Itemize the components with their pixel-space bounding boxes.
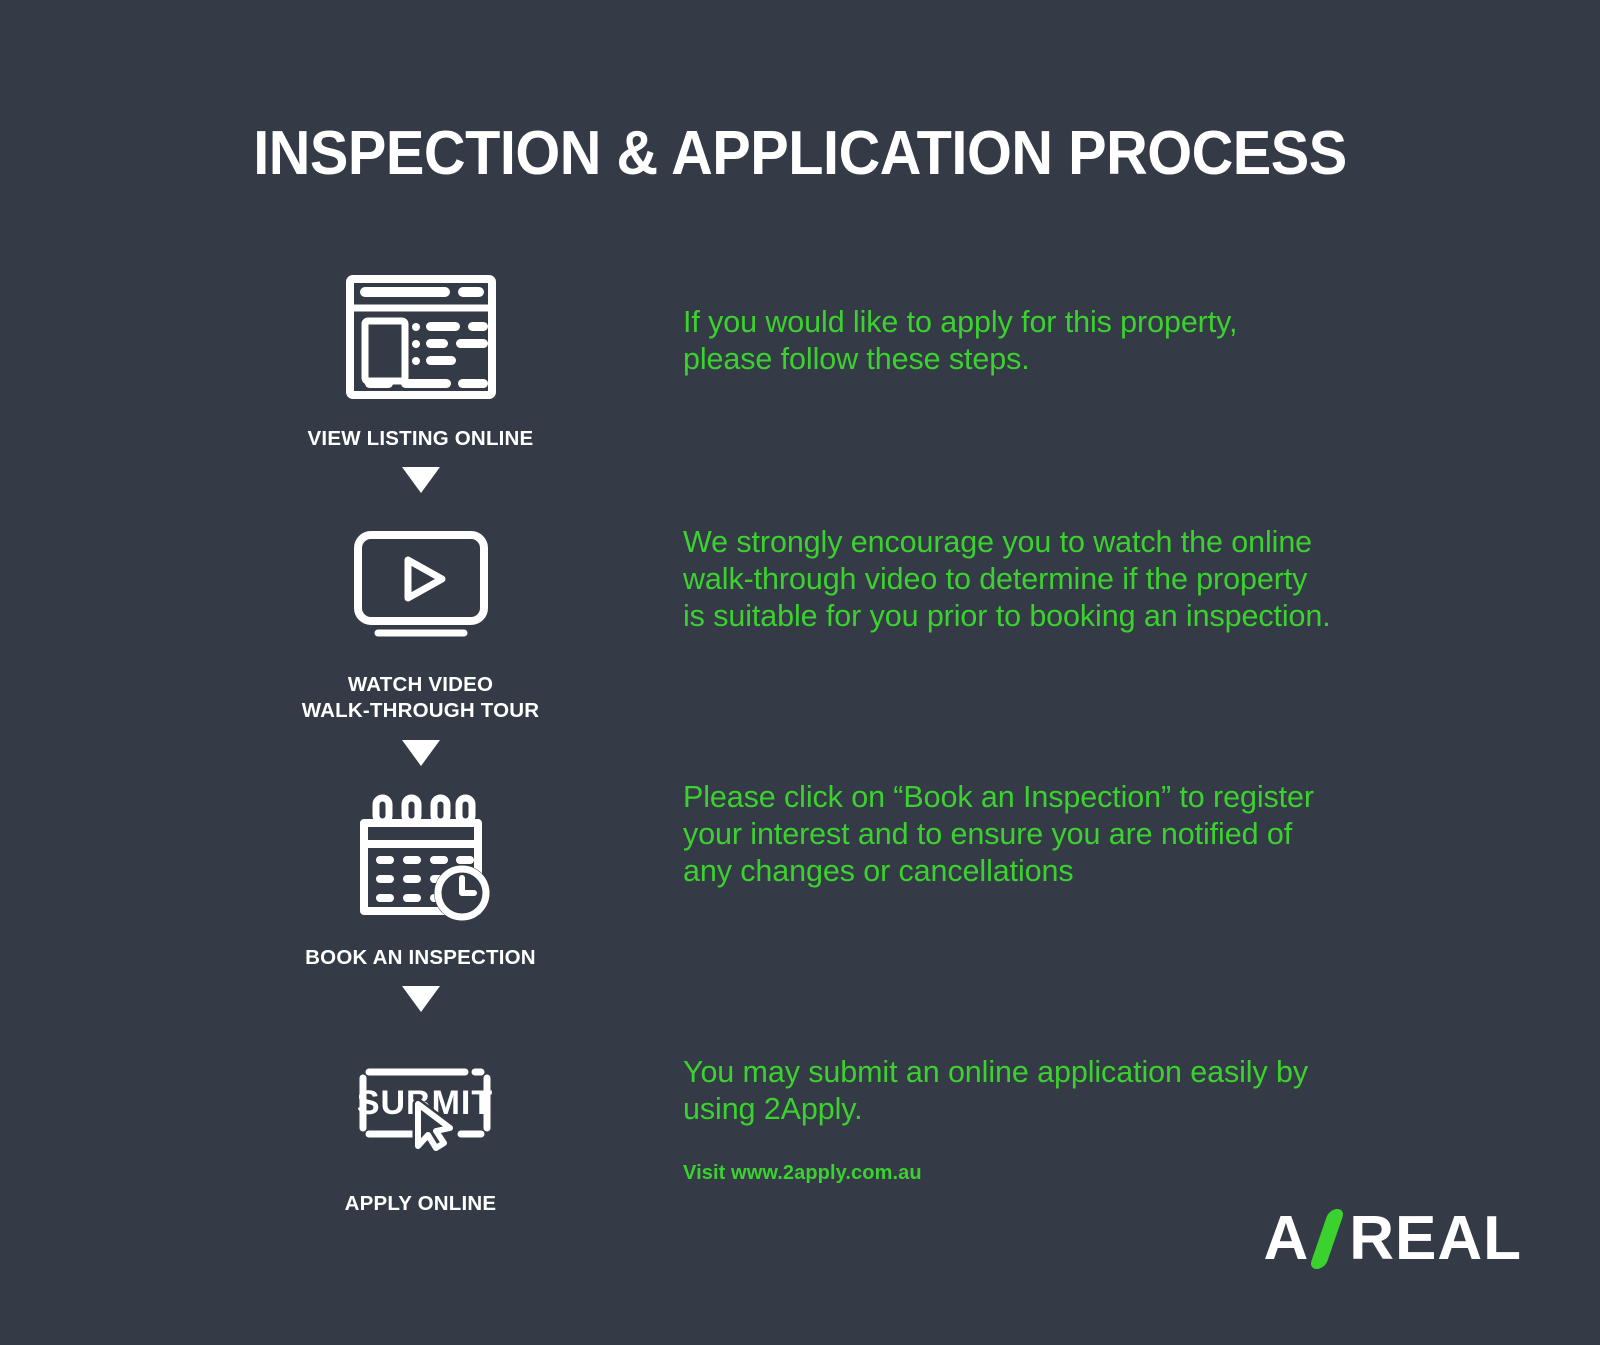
note-apply-online: You may submit an online application eas… (683, 1054, 1308, 1128)
step-view-listing-online: VIEW LISTING ONLINE (268, 262, 573, 452)
logo-slash-icon (1309, 1209, 1346, 1269)
calendar-clock-icon (268, 781, 573, 931)
triangle-down-icon-1 (268, 452, 573, 508)
logo-letter-a: A (1263, 1208, 1309, 1270)
note-watch-video: We strongly encourage you to watch the o… (683, 524, 1331, 636)
brand-logo: A REAL (1263, 1208, 1522, 1270)
step-label-view-listing-online: VIEW LISTING ONLINE (268, 426, 573, 452)
note-view-listing-online: If you would like to apply for this prop… (683, 304, 1237, 378)
triangle-down-icon-3 (268, 971, 573, 1027)
video-player-icon (268, 508, 573, 658)
note-book-inspection: Please click on “Book an Inspection” to … (683, 779, 1314, 891)
step-label-watch-video: WATCH VIDEO WALK-THROUGH TOUR (268, 672, 573, 724)
page-title: INSPECTION & APPLICATION PROCESS (56, 118, 1544, 189)
steps-column: VIEW LISTING ONLINE WATCH VIDEO WALK-THR… (268, 262, 573, 1217)
step-apply-online: SUBMIT APPLY ONLINE (268, 1027, 573, 1217)
step-label-book-inspection: BOOK AN INSPECTION (268, 945, 573, 971)
triangle-down-icon-2 (268, 725, 573, 781)
step-watch-video: WATCH VIDEO WALK-THROUGH TOUR (268, 508, 573, 724)
listing-window-icon (268, 262, 573, 412)
step-book-inspection: BOOK AN INSPECTION (268, 781, 573, 971)
logo-word-real: REAL (1349, 1208, 1522, 1270)
infographic-poster: INSPECTION & APPLICATION PROCESS (0, 0, 1600, 1345)
visit-url-text[interactable]: Visit www.2apply.com.au (683, 1162, 922, 1185)
submit-button-cursor-icon: SUBMIT (268, 1027, 573, 1177)
step-label-apply-online: APPLY ONLINE (268, 1191, 573, 1217)
